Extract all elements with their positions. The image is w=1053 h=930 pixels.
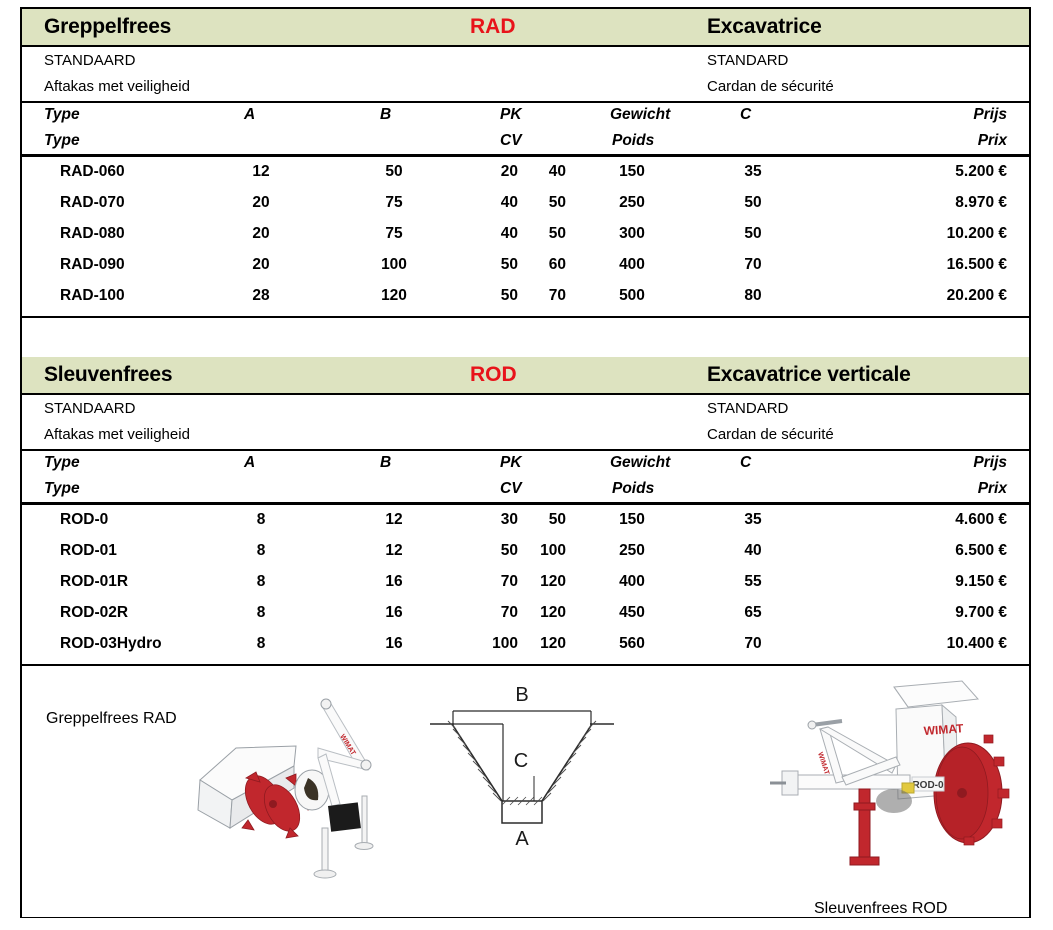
table-title-fr-rod: Excavatrice verticale: [707, 363, 911, 387]
cell-price: 10.400 €: [22, 635, 1007, 653]
cell-price: 10.200 €: [22, 225, 1007, 243]
figure-caption-left: Greppelfrees RAD: [46, 710, 177, 728]
document-frame: Greppelfrees RAD Excavatrice STANDAARD A…: [20, 7, 1031, 918]
spec-table-rad: Greppelfrees RAD Excavatrice STANDAARD A…: [22, 9, 1029, 318]
document-page: Greppelfrees RAD Excavatrice STANDAARD A…: [0, 0, 1053, 930]
cell-price: 8.970 €: [22, 194, 1007, 212]
standard-label-fr-rod: STANDARD: [707, 400, 788, 417]
standard-label-fr-rad: STANDARD: [707, 52, 788, 69]
table-code-rad: RAD: [470, 15, 516, 39]
column-header-band-rod: Type A B PK Gewicht C Prijs Type CV Poid…: [22, 451, 1029, 505]
sleuvenfrees-rod-photo: WIMAT: [746, 677, 1014, 892]
cell-price: 16.500 €: [22, 256, 1007, 274]
table-body-rod: ROD-08123050150354.600 €ROD-018125010025…: [22, 505, 1029, 666]
table-title-fr-rad: Excavatrice: [707, 15, 822, 39]
table-title-nl-rad: Greppelfrees: [44, 15, 171, 39]
trench-cross-section-diagram: B C A: [422, 679, 622, 874]
cell-price: 5.200 €: [22, 163, 1007, 181]
svg-text:B: B: [515, 684, 528, 706]
standard-text-fr-rod: Cardan de sécurité: [707, 426, 834, 443]
cell-price: 4.600 €: [22, 511, 1007, 529]
svg-text:ROD-0: ROD-0: [912, 780, 944, 791]
column-header-band-rad: Type A B PK Gewicht C Prijs Type CV Poid…: [22, 103, 1029, 157]
table-title-band-rod: Sleuvenfrees ROD Excavatrice verticale: [22, 357, 1029, 395]
standard-label-nl-rod: STANDAARD: [44, 400, 135, 417]
cell-price: 20.200 €: [22, 287, 1007, 305]
table-body-rad: RAD-06012502040150355.200 €RAD-070207540…: [22, 157, 1029, 318]
table-title-band-rad: Greppelfrees RAD Excavatrice: [22, 9, 1029, 47]
standard-text-fr-rad: Cardan de sécurité: [707, 78, 834, 95]
col-header-price-nl-rad: Prijs: [22, 106, 1007, 124]
standard-text-nl-rad: Aftakas met veiligheid: [44, 78, 190, 95]
table-title-nl-rod: Sleuvenfrees: [44, 363, 172, 387]
figure-area: Greppelfrees RAD Sleuvenfrees ROD: [22, 677, 1029, 917]
standard-text-nl-rod: Aftakas met veiligheid: [44, 426, 190, 443]
svg-text:C: C: [514, 750, 528, 772]
standard-label-nl-rad: STANDAARD: [44, 52, 135, 69]
cell-price: 6.500 €: [22, 542, 1007, 560]
cell-price: 9.700 €: [22, 604, 1007, 622]
standard-equipment-band-rod: STANDAARD Aftakas met veiligheid STANDAR…: [22, 395, 1029, 451]
figure-caption-right: Sleuvenfrees ROD: [814, 900, 947, 918]
spec-table-rod: Sleuvenfrees ROD Excavatrice verticale S…: [22, 357, 1029, 666]
svg-text:A: A: [515, 828, 529, 850]
table-code-rod: ROD: [470, 363, 517, 387]
svg-text:WIMAT: WIMAT: [923, 721, 964, 738]
cell-price: 9.150 €: [22, 573, 1007, 591]
col-header-price-fr-rad: Prix: [22, 132, 1007, 150]
standard-equipment-band-rad: STANDAARD Aftakas met veiligheid STANDAR…: [22, 47, 1029, 103]
greppelfrees-rad-photo: WIMAT: [190, 688, 386, 888]
col-header-price-fr-rod: Prix: [22, 480, 1007, 498]
col-header-price-nl-rod: Prijs: [22, 454, 1007, 472]
